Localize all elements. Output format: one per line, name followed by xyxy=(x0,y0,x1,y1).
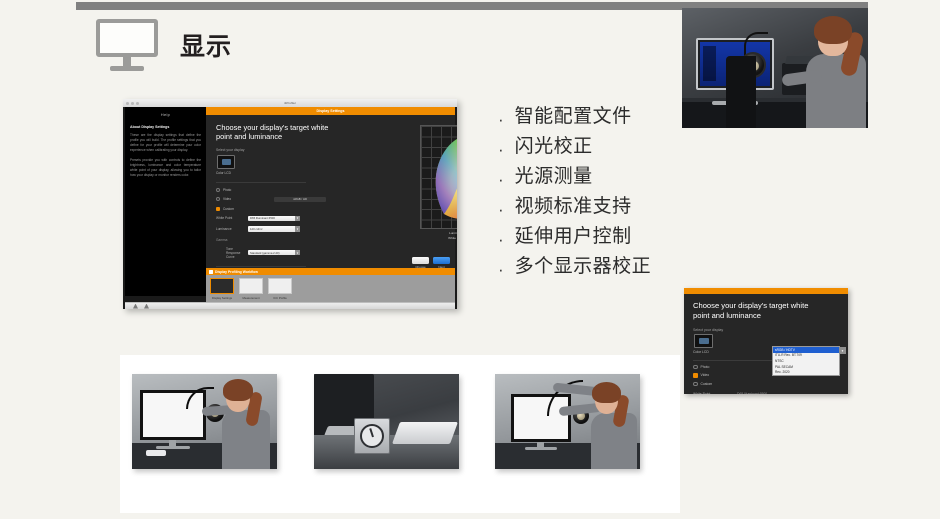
photo-colorimeter-closeup xyxy=(314,374,459,469)
tools-icon[interactable] xyxy=(133,304,138,309)
workflow-step-thumbnail xyxy=(239,278,263,294)
bullet-marker-icon: · xyxy=(498,231,504,248)
workflow-step-label: ICC Profile xyxy=(268,296,292,300)
monitor-icon-neck xyxy=(123,57,131,66)
workflow-icon xyxy=(209,270,213,274)
white-point-select[interactable]: D65 Illuminant 6500 ▾ xyxy=(248,216,300,222)
bullet-label: 闪光校正 xyxy=(515,137,593,156)
detail-mode-radio-photo-label: Photo xyxy=(701,365,710,369)
radio-icon xyxy=(216,197,220,201)
photo-imac-screen-sidebar xyxy=(703,46,716,81)
luminance-select[interactable]: 120 cd/m² ▾ xyxy=(248,226,300,232)
list-item: · 光源测量 xyxy=(498,167,651,188)
workflow-step-thumbnail xyxy=(268,278,292,294)
list-item: · 智能配置文件 xyxy=(498,107,651,128)
tone-response-curve-value: Standard (gamma 2.20) xyxy=(250,251,280,255)
window-zoom-icon[interactable] xyxy=(136,102,139,105)
photo-person xyxy=(800,14,868,128)
photo-keyboard xyxy=(392,422,458,444)
detail-mode-radio-video-label: Video xyxy=(701,373,710,377)
detail-panel-banner xyxy=(684,288,848,294)
radio-icon xyxy=(216,207,220,211)
detail-white-point-field: White Point D65 Illuminant 6500 xyxy=(693,392,848,394)
cie-chromaticity-diagram: Luminance 120.000 cd/m² White Point x 0.… xyxy=(406,121,457,243)
app-section-banner-label: Display Settings xyxy=(317,109,345,113)
photo-woman-at-imac xyxy=(682,8,868,128)
workflow-steps: Display Settings Measurement ICC Profile xyxy=(206,275,455,300)
photo-person-hair xyxy=(592,382,621,403)
chevron-down-icon: ▾ xyxy=(295,250,300,256)
list-item: · 延伸用户控制 xyxy=(498,227,651,248)
photo-gallery-card xyxy=(120,355,680,513)
list-item: · 闪光校正 xyxy=(498,137,651,158)
app-action-buttons xyxy=(412,257,450,264)
slide-root: 显示 i1Profiler Help About Display Setting… xyxy=(0,0,940,519)
photo-colorimeter-device xyxy=(354,418,390,454)
workflow-strip: Display Profiling Workflow Display Setti… xyxy=(206,268,455,303)
workflow-step-icc-profile[interactable]: ICC Profile xyxy=(268,278,292,300)
monitor-icon xyxy=(96,19,158,71)
display-device-icon xyxy=(222,159,231,165)
detail-panel-heading: Choose your display's target white point… xyxy=(693,301,823,321)
workflow-step-label: Measurement xyxy=(239,296,263,300)
cie-white-point-readout: White Point x 0.312 y 0.329 xyxy=(406,236,457,241)
app-section-banner: Display Settings xyxy=(206,107,455,115)
photo-person xyxy=(581,379,639,469)
tone-response-curve-label: Tone Response Curve xyxy=(226,247,248,259)
workflow-step-measurement[interactable]: Measurement xyxy=(239,278,263,300)
photo-trackpad xyxy=(146,450,166,456)
cie-plot-area xyxy=(420,125,457,229)
bullet-marker-icon: · xyxy=(498,111,504,128)
photo-person xyxy=(216,378,276,469)
workflow-step-thumbnail xyxy=(210,278,234,294)
detail-mode-radio-custom-label: Custom xyxy=(701,382,713,386)
luminance-value: 120 cd/m² xyxy=(250,227,262,231)
photo-person-hair xyxy=(814,16,852,44)
luminance-label: Luminance xyxy=(216,227,248,231)
bullet-label: 智能配置文件 xyxy=(515,107,632,126)
bullet-marker-icon: · xyxy=(498,201,504,218)
detail-panel-zoom: Choose your display's target white point… xyxy=(684,288,848,394)
bullet-marker-icon: · xyxy=(498,171,504,188)
window-minimize-icon[interactable] xyxy=(131,102,134,105)
window-controls[interactable] xyxy=(126,102,139,105)
cie-caption: Luminance 120.000 cd/m² White Point x 0.… xyxy=(406,231,457,240)
video-standard-dropdown[interactable]: ▾ sRGB / HDTV ITU-R Rec. BT.709 NTSC PAL… xyxy=(772,346,840,376)
help-panel-heading: About Display Settings xyxy=(130,125,201,129)
photo-display-base xyxy=(525,447,557,450)
bullet-marker-icon: · xyxy=(498,141,504,158)
home-icon[interactable] xyxy=(144,304,149,309)
detail-mode-radio-custom[interactable]: Custom xyxy=(693,382,848,387)
detail-select-display-label: Select your display xyxy=(693,328,848,332)
app-window-title: i1Profiler xyxy=(284,101,296,105)
workflow-step-label: Display Settings xyxy=(210,296,234,300)
app-heading: Choose your display's target white point… xyxy=(216,123,336,142)
detail-white-point-value: D65 Illuminant 6500 xyxy=(737,392,767,394)
divider xyxy=(216,182,306,183)
photo-woman-hanging-colorimeter xyxy=(495,374,640,469)
chevron-down-icon: ▾ xyxy=(295,216,300,222)
photo-colorimeter-dial xyxy=(360,424,384,448)
photo-colorimeter-needle xyxy=(369,428,374,437)
detail-display-device-button[interactable] xyxy=(694,334,713,348)
photo-woman-holding-colorimeter xyxy=(132,374,277,469)
help-panel-paragraph-1: These are the display settings that defi… xyxy=(130,133,201,153)
photo-person-hair xyxy=(223,379,253,401)
detail-white-point-label: White Point xyxy=(693,392,737,394)
radio-icon xyxy=(216,188,220,192)
photo-chair xyxy=(726,56,756,128)
dropdown-option[interactable]: Rec. 2020 xyxy=(773,370,839,376)
help-panel: Help About Display Settings These are th… xyxy=(125,107,207,296)
bullet-marker-icon: · xyxy=(498,261,504,278)
bullet-label: 光源测量 xyxy=(515,167,593,186)
help-panel-paragraph-2: Presets provide you with controls to def… xyxy=(130,158,201,178)
tone-response-curve-select[interactable]: Standard (gamma 2.20) ▾ xyxy=(248,250,300,256)
chevron-down-icon[interactable]: ▾ xyxy=(839,347,846,354)
white-point-value: D65 Illuminant 6500 xyxy=(250,216,275,220)
page-title: 显示 xyxy=(180,27,232,63)
monitor-icon-screen xyxy=(96,19,158,57)
display-device-icon xyxy=(699,338,709,344)
feature-bullet-list: · 智能配置文件 · 闪光校正 · 光源测量 · 视频标准支持 · 延伸用户控制… xyxy=(498,107,651,287)
radio-icon xyxy=(693,382,698,387)
list-item: · 多个显示器校正 xyxy=(498,257,651,278)
radio-icon xyxy=(693,365,698,370)
bullet-label: 多个显示器校正 xyxy=(515,257,652,276)
mode-radio-video-label: Video xyxy=(223,197,231,201)
workflow-strip-title: Display Profiling Workflow xyxy=(215,270,258,274)
page-header: 显示 xyxy=(96,19,232,71)
white-point-label: White Point xyxy=(216,216,248,220)
app-title-bar: i1Profiler xyxy=(123,99,457,107)
display-device-button[interactable] xyxy=(217,155,235,169)
help-panel-tab[interactable]: Help xyxy=(125,107,206,117)
photo-display-base xyxy=(156,446,190,449)
monitor-icon-base xyxy=(110,66,144,71)
bullet-label: 视频标准支持 xyxy=(515,197,632,216)
video-standard-select[interactable]: sRGB / HD xyxy=(274,197,326,202)
bullet-label: 延伸用户控制 xyxy=(515,227,632,246)
radio-icon xyxy=(693,373,698,378)
software-screenshot: i1Profiler Help About Display Settings T… xyxy=(123,99,457,309)
window-close-icon[interactable] xyxy=(126,102,129,105)
chevron-down-icon: ▾ xyxy=(295,226,300,232)
mode-radio-photo-label: Photo xyxy=(223,188,231,192)
list-item: · 视频标准支持 xyxy=(498,197,651,218)
app-footer-bar xyxy=(125,302,455,309)
mode-radio-custom-label: Custom xyxy=(223,207,234,211)
workflow-step-display-settings[interactable]: Display Settings xyxy=(210,278,234,300)
choose-button[interactable] xyxy=(412,257,429,264)
workflow-strip-bar: Display Profiling Workflow xyxy=(206,268,455,275)
cie-gamut-shape xyxy=(421,126,457,229)
next-button[interactable] xyxy=(433,257,450,264)
app-main-panel: Display Settings Choose your display's t… xyxy=(206,107,455,268)
divider xyxy=(216,266,306,267)
